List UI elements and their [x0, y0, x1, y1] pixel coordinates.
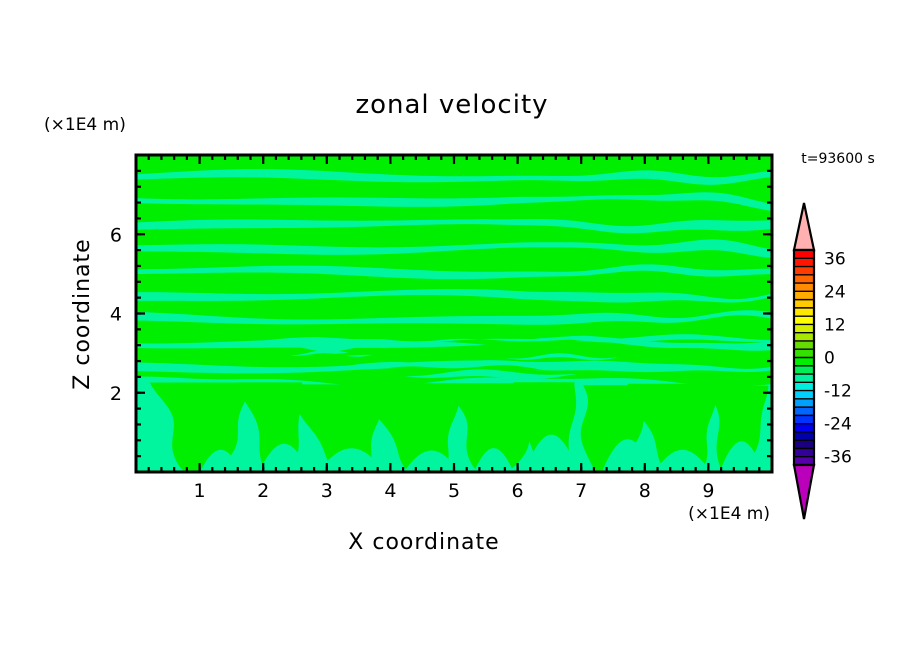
colorbar — [794, 203, 814, 519]
colorbar-tick-label: 24 — [824, 282, 846, 302]
x-tick-label: 4 — [384, 480, 396, 502]
x-tick-label: 9 — [702, 480, 714, 502]
contour-plot-svg: zonal velocity (×1E4 m) 123456789 246 (×… — [0, 0, 904, 654]
y-tick-label: 2 — [110, 383, 122, 405]
x-axis-title: X coordinate — [348, 530, 499, 555]
colorbar-tick-label: 0 — [824, 349, 835, 369]
colorbar-tick-label: -24 — [824, 415, 852, 435]
y-tick-label: 4 — [110, 304, 122, 326]
x-unit-label: (×1E4 m) — [688, 504, 770, 524]
page-title: zonal velocity — [355, 90, 548, 120]
x-tick-label: 6 — [512, 480, 524, 502]
timestamp-label: t=93600 s — [801, 151, 875, 167]
colorbar-tick-label: 12 — [824, 315, 846, 335]
x-tick-label: 3 — [321, 480, 333, 502]
colorbar-tick-label: 36 — [824, 249, 846, 269]
colorbar-tick-label: -12 — [824, 382, 852, 402]
x-tick-label: 5 — [448, 480, 460, 502]
figure-canvas: zonal velocity (×1E4 m) 123456789 246 (×… — [0, 0, 904, 654]
y-tick-label: 6 — [110, 224, 122, 246]
y-unit-label: (×1E4 m) — [44, 115, 126, 135]
contour-field — [135, 155, 832, 472]
x-tick-label: 8 — [639, 480, 651, 502]
y-axis-title: Z coordinate — [70, 238, 95, 389]
x-tick-label: 7 — [575, 480, 587, 502]
colorbar-tick-label: -36 — [824, 448, 852, 468]
x-tick-label: 2 — [257, 480, 269, 502]
x-tick-label: 1 — [194, 480, 206, 502]
